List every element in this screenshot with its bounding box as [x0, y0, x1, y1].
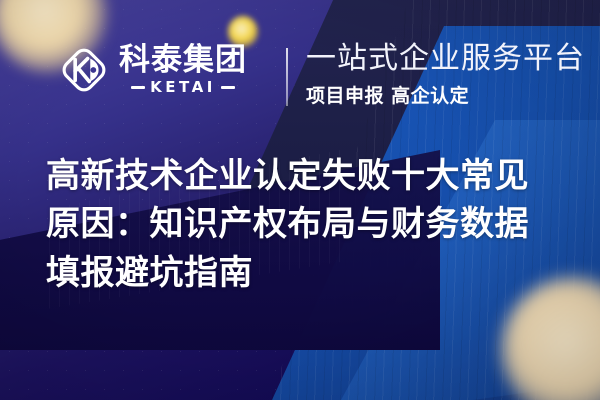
- brand-name-en: KETAI: [150, 80, 216, 95]
- brand-name-cn: 科泰集团: [119, 45, 247, 76]
- tagline-main: 一站式企业服务平台: [306, 42, 585, 77]
- brand-dash-left-icon: [131, 86, 145, 89]
- page-title: 高新技术企业认定失败十大常见原因：知识产权布局与财务数据填报避坑指南: [46, 152, 562, 297]
- ketai-kd-diamond-logo-icon: [58, 44, 110, 96]
- vertical-divider: [286, 48, 288, 106]
- brand-logo-lockup: 科泰集团 KETAI: [58, 44, 247, 96]
- tagline-sub: 项目申报 高企认定: [306, 81, 585, 108]
- brand-text-block: 科泰集团 KETAI: [119, 45, 247, 95]
- brand-dash-right-icon: [221, 86, 235, 89]
- tagline-block: 一站式企业服务平台 项目申报 高企认定: [306, 42, 585, 108]
- banner-canvas: 科泰集团 KETAI 一站式企业服务平台 项目申报 高企认定 高新技术企业认定失…: [0, 0, 600, 400]
- brand-name-en-row: KETAI: [119, 80, 247, 95]
